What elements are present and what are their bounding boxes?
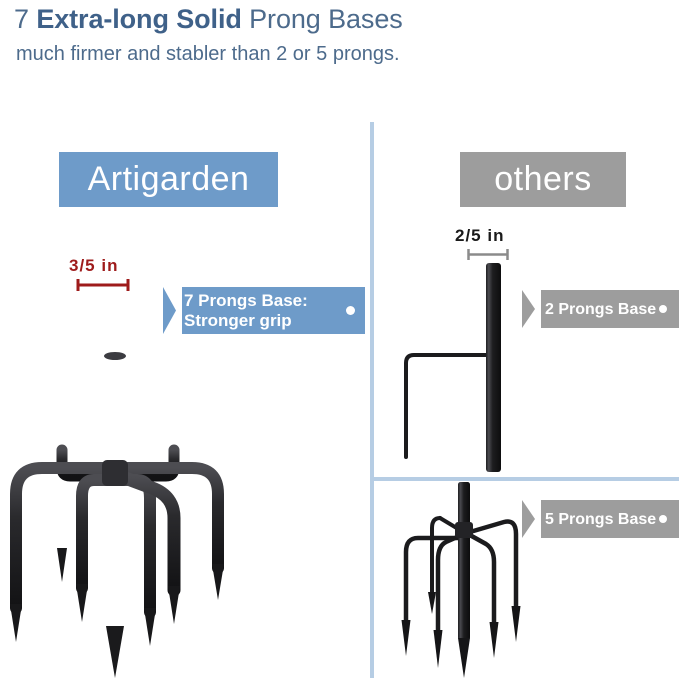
comparison-infographic: 7 Extra-long Solid Prong Bases much firm… [0,0,679,678]
measurement-label-right: 2/5 in [455,226,504,246]
bullet-dot-icon [346,306,355,315]
horizontal-divider [372,477,679,481]
product-image-7-prong [2,290,232,678]
brand-chip-artigarden-label: Artigarden [88,160,250,199]
bullet-dot-icon [659,305,667,313]
title-suffix: Prong Bases [242,4,403,34]
title-bold: Extra-long Solid [36,4,241,34]
ribbon-notch-icon [522,290,541,328]
brand-chip-artigarden: Artigarden [59,152,278,207]
callout-ribbon-5-prong-label: 5 Prongs Base [545,510,656,529]
brand-chip-others: others [460,152,626,207]
page-title: 7 Extra-long Solid Prong Bases [14,2,403,36]
measurement-label-left: 3/5 in [69,256,118,276]
ribbon-notch-icon [163,287,182,334]
ribbon-notch-icon [522,500,541,538]
callout-ribbon-5-prong: 5 Prongs Base [522,500,679,538]
callout-ribbon-7-prong: 7 Prongs Base: Stronger grip [163,287,365,334]
brand-chip-others-label: others [494,160,592,199]
callout-ribbon-2-prong-label: 2 Prongs Base [545,300,656,319]
title-prefix: 7 [14,4,36,34]
page-subtitle: much firmer and stabler than 2 or 5 pron… [16,41,400,67]
callout-ribbon-2-prong: 2 Prongs Base [522,290,679,328]
callout-ribbon-7-prong-label: 7 Prongs Base: Stronger grip [184,291,308,331]
product-image-2-prong [398,260,528,475]
vertical-divider [370,122,374,678]
bullet-dot-icon [659,515,667,523]
